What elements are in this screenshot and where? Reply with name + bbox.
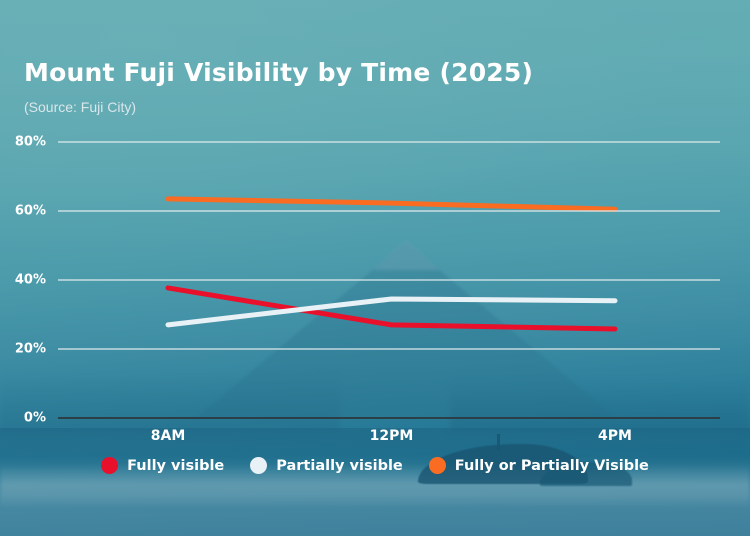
gridline (58, 210, 720, 212)
legend-item[interactable]: Fully or Partially Visible (429, 457, 649, 474)
chart-title: Mount Fuji Visibility by Time (2025) (24, 58, 533, 87)
chart-screenshot: Mount Fuji Visibility by Time (2025) (So… (0, 0, 750, 536)
circle-marker-icon (101, 457, 118, 474)
series-line (168, 288, 615, 329)
gridline (58, 348, 720, 350)
circle-marker-icon (250, 457, 267, 474)
y-axis-tick-label: 60% (15, 204, 46, 219)
plot-area: 0%20%40%60%80%8AM12PM4PM (58, 142, 720, 418)
legend-item-label: Fully visible (127, 458, 224, 474)
series-line (168, 299, 615, 325)
y-axis-tick-label: 20% (15, 342, 46, 357)
y-axis-tick-label: 80% (15, 135, 46, 150)
y-axis-tick-label: 40% (15, 273, 46, 288)
chart-subtitle: (Source: Fuji City) (24, 99, 136, 115)
x-axis-tick-label: 12PM (370, 428, 414, 444)
legend-item[interactable]: Partially visible (250, 457, 403, 474)
y-axis-tick-label: 0% (24, 411, 46, 426)
x-axis-tick-label: 8AM (151, 428, 186, 444)
circle-marker-icon (429, 457, 446, 474)
x-axis-line (58, 417, 720, 419)
legend-item-label: Partially visible (276, 458, 403, 474)
legend-item-label: Fully or Partially Visible (455, 458, 649, 474)
chart-legend: Fully visiblePartially visibleFully or P… (0, 457, 750, 474)
x-axis-tick-label: 4PM (598, 428, 632, 444)
gridline (58, 279, 720, 281)
legend-item[interactable]: Fully visible (101, 457, 224, 474)
gridline (58, 141, 720, 143)
series-line (168, 199, 615, 209)
